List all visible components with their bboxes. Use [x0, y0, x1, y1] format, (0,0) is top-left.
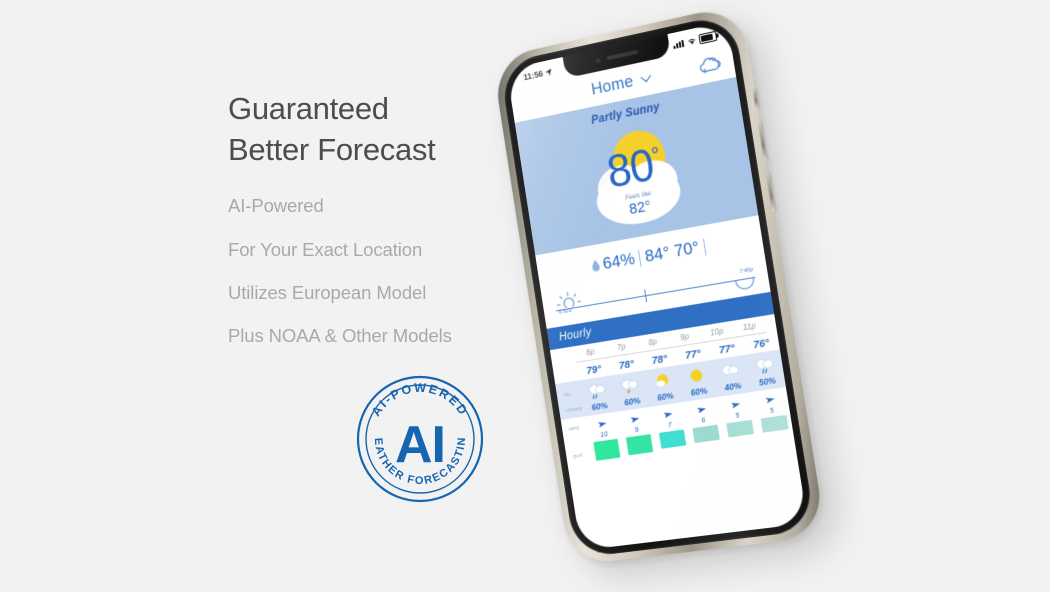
phone-screen: 11:56 Home [506, 21, 807, 551]
wind-arrow-icon [752, 390, 789, 410]
hour-label: 10p [700, 325, 734, 342]
front-camera-icon [595, 58, 600, 64]
cloud-rain-icon [746, 351, 784, 378]
wind-value: 5 [754, 405, 790, 417]
sunset-icon [733, 277, 759, 295]
gust-bar [588, 436, 625, 468]
gust-bar [755, 412, 794, 445]
low-temp-value: 70° [673, 237, 701, 261]
earpiece-speaker [606, 50, 637, 60]
battery-icon [698, 31, 717, 44]
badge-top-arc-text: AI-POWERED [369, 381, 471, 419]
cloud-refresh-icon[interactable] [695, 52, 723, 77]
wind-row-label: wind [562, 424, 587, 433]
chance-row-label: chance [559, 406, 584, 415]
wind-arrow-icon [684, 400, 720, 420]
humidity-value: 64% [601, 249, 636, 274]
location-selector[interactable]: Home [590, 68, 652, 99]
hour-temp: 78° [609, 357, 644, 374]
location-selector-label: Home [590, 72, 635, 98]
hour-label: 8p [636, 335, 669, 352]
cloud-icon [712, 357, 750, 384]
wifi-icon [687, 37, 697, 46]
sky-row-label: sky [557, 390, 582, 399]
ai-powered-badge: AI-POWERED WEATHER FORECASTING AI [355, 374, 485, 504]
stat-divider [638, 249, 642, 266]
gust-row-label: gust [566, 452, 591, 461]
cellular-signal-icon [673, 39, 685, 48]
wind-value: 6 [686, 415, 721, 427]
chevron-down-icon [641, 71, 652, 82]
location-arrow-icon [545, 68, 552, 76]
gust-bar [721, 417, 760, 450]
current-temperature: 80° [604, 140, 664, 194]
gust-bar [621, 432, 658, 464]
stat-divider [703, 238, 707, 255]
hour-label: 9p [668, 330, 702, 347]
gust-bar [687, 422, 725, 455]
high-temp-value: 84° [644, 243, 672, 267]
wind-value: 5 [720, 410, 755, 422]
badge-center-text: AI [395, 416, 445, 474]
sun-icon [678, 362, 715, 389]
hour-label: 11p [732, 320, 767, 337]
wind-arrow-icon [718, 395, 755, 415]
hour-temp: 79° [577, 362, 611, 379]
phone-mockup: 11:56 Home [478, 24, 878, 569]
